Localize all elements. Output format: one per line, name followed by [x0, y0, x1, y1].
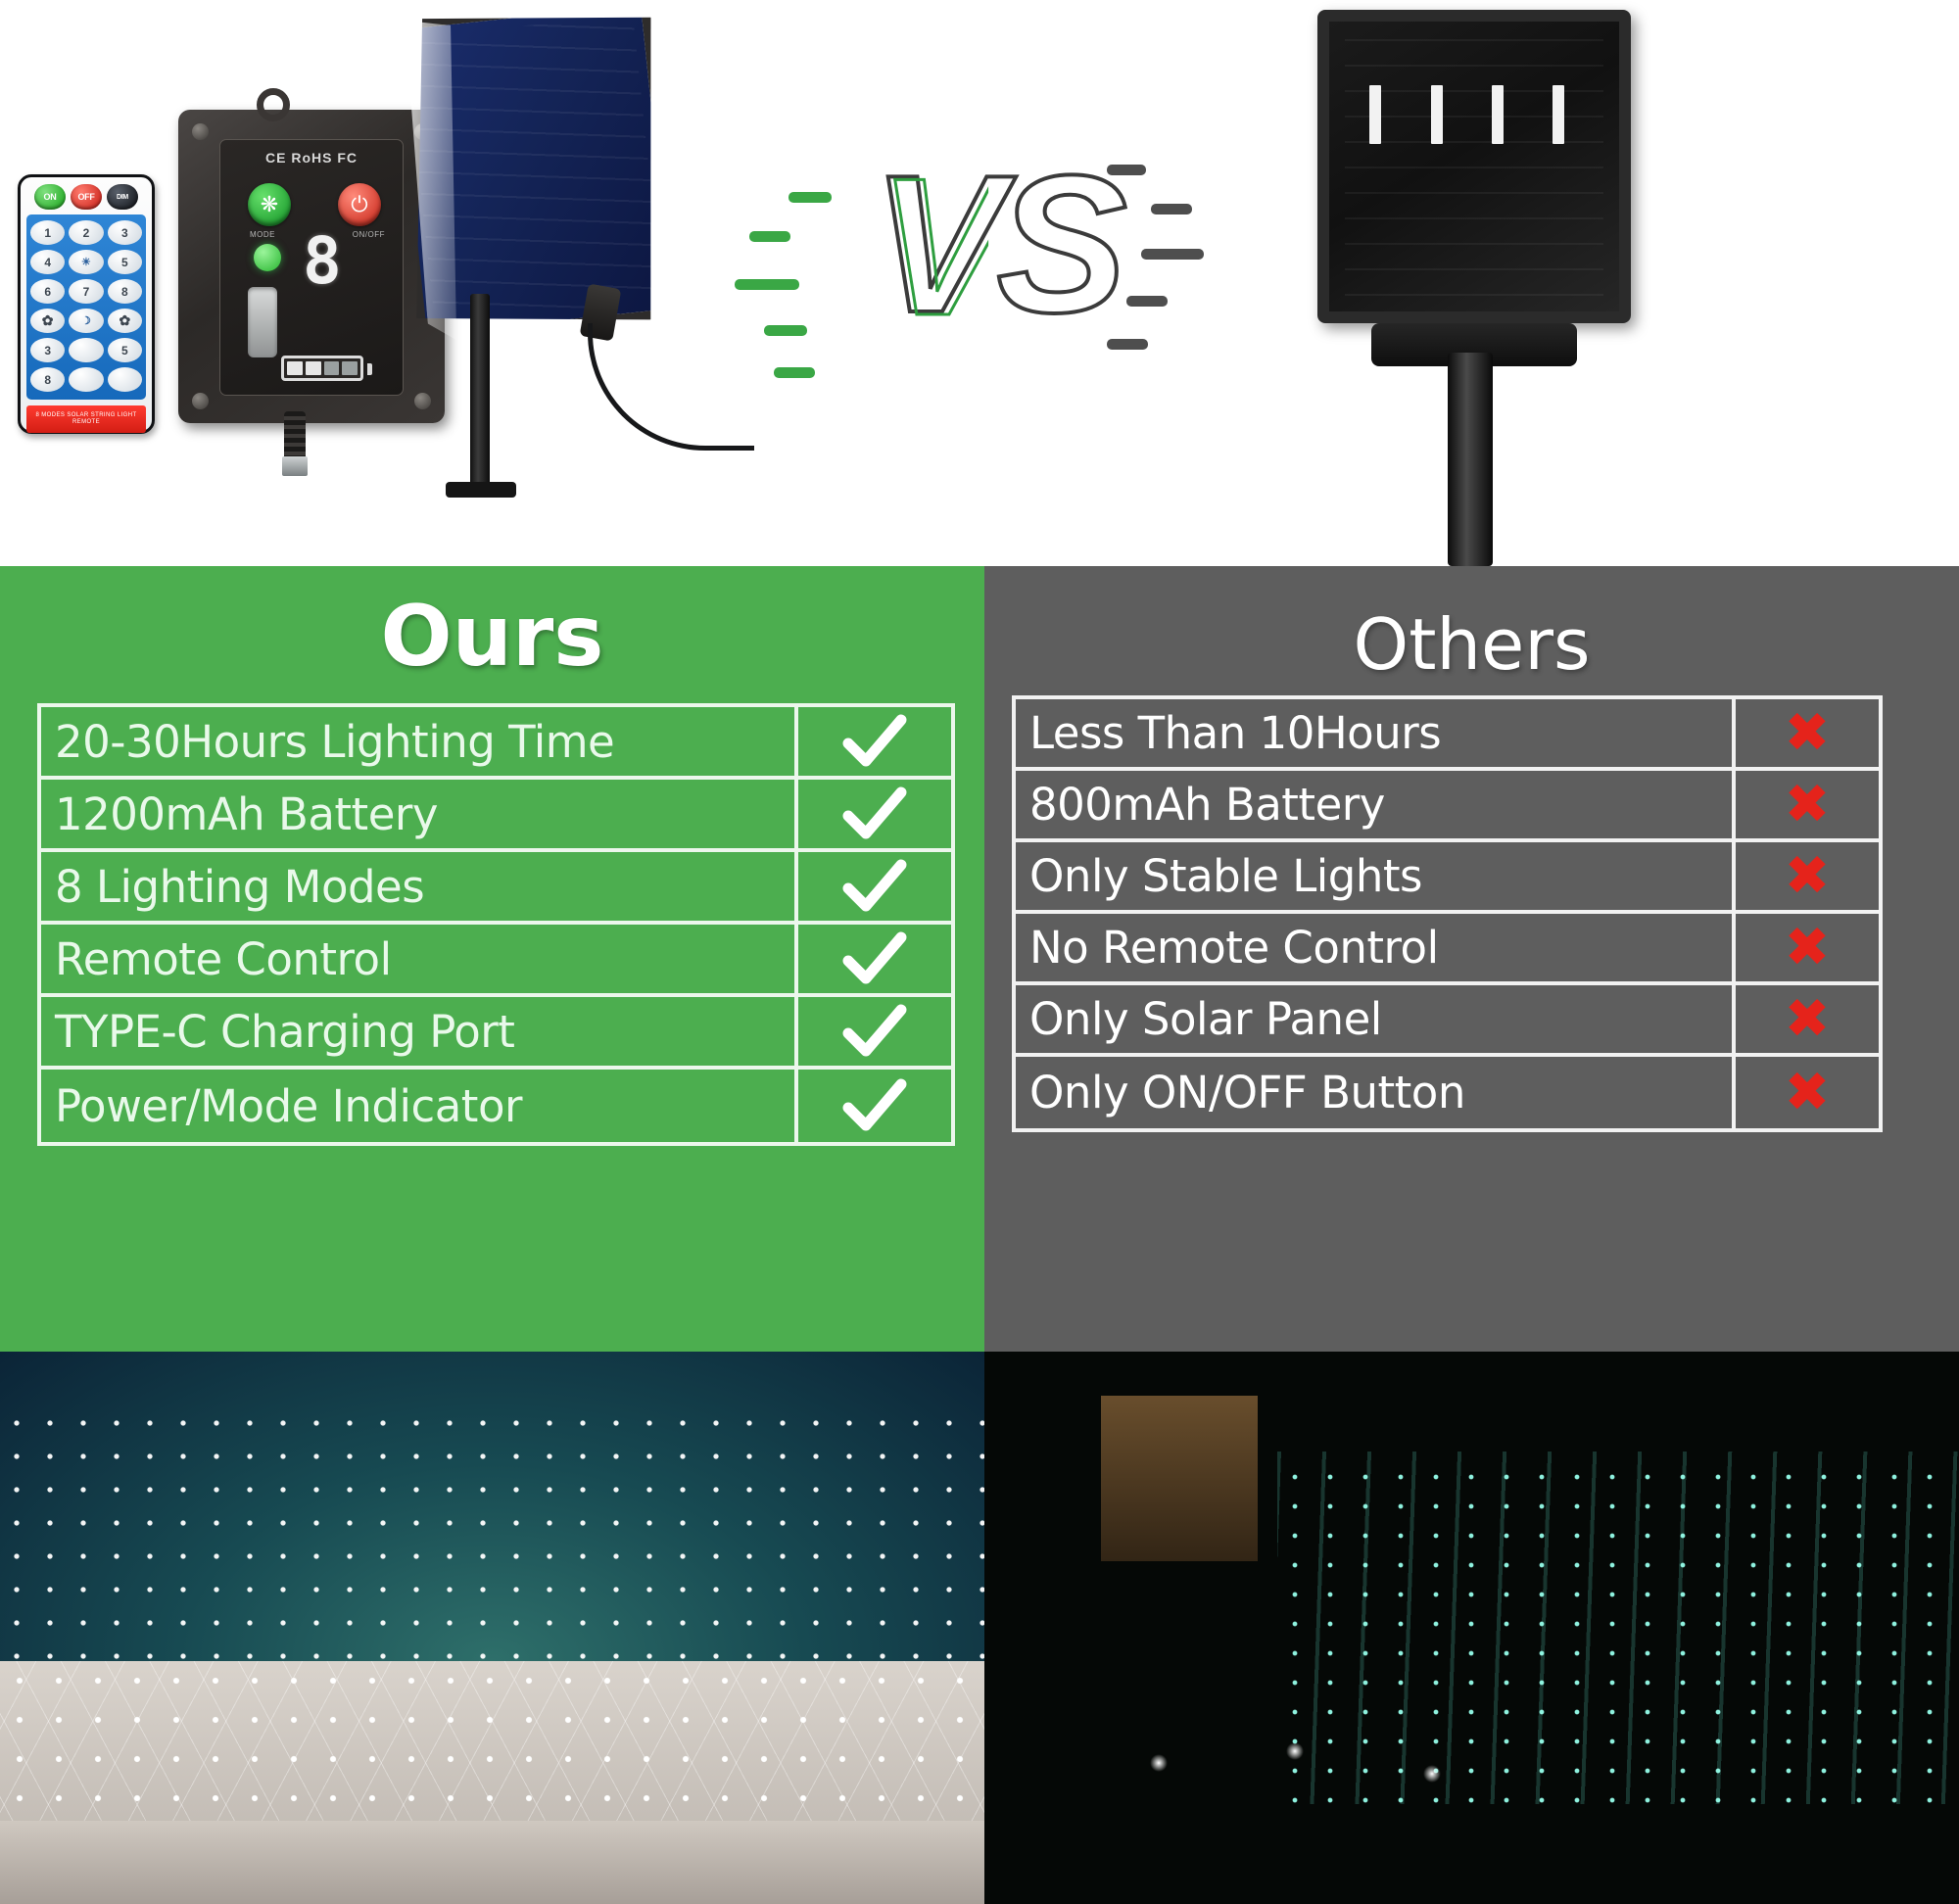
remote-key-gear-right-icon[interactable]: ✿	[108, 309, 142, 333]
others-cross-cell-1: ✖	[1732, 699, 1879, 767]
cross-icon: ✖	[1785, 921, 1831, 976]
table-row: Less Than 10Hours ✖	[1016, 699, 1879, 771]
remote-key-moon-icon[interactable]: ☽	[69, 309, 103, 333]
ours-check-cell-2	[794, 780, 951, 848]
ours-check-cell-4	[794, 925, 951, 993]
table-row: Only Stable Lights ✖	[1016, 842, 1879, 914]
solar-cell-grid-others	[1345, 37, 1603, 296]
table-row: No Remote Control ✖	[1016, 914, 1879, 985]
table-row: Only Solar Panel ✖	[1016, 985, 1879, 1057]
remote-key-5[interactable]: 5	[108, 250, 142, 274]
remote-key-extra-a[interactable]	[69, 367, 103, 392]
others-cross-cell-5: ✖	[1732, 985, 1879, 1053]
remote-top-button-row: ON OFF DIM	[26, 184, 146, 210]
table-row: 800mAh Battery ✖	[1016, 771, 1879, 842]
remote-key-timer-icon[interactable]	[69, 338, 103, 362]
vs-dash-left-5	[774, 367, 815, 378]
solar-panel-ours-base	[446, 482, 516, 498]
table-row: Remote Control	[41, 925, 951, 997]
controller-mode-label: MODE	[250, 230, 275, 239]
check-icon	[842, 714, 907, 769]
table-row: Power/Mode Indicator	[41, 1070, 951, 1142]
ours-feature-label-2: 1200mAh Battery	[41, 780, 794, 848]
check-icon	[842, 931, 907, 986]
vs-dash-right-2	[1151, 204, 1192, 214]
remote-key-2[interactable]: 2	[69, 220, 103, 245]
remote-keypad: 1 2 3 4 ☀ 5 6 7 8 ✿ ☽ ✿ 3 5 8	[26, 214, 146, 400]
solar-panel-ours	[385, 0, 682, 344]
vs-dash-right-5	[1107, 339, 1148, 350]
ours-check-cell-5	[794, 997, 951, 1066]
ours-panel-title: Ours	[0, 566, 984, 686]
solar-panel-others-face	[1317, 10, 1631, 323]
vs-dash-right-4	[1126, 296, 1168, 307]
ours-check-cell-6	[794, 1070, 951, 1142]
ours-feature-label-3: 8 Lighting Modes	[41, 852, 794, 921]
others-cross-cell-3: ✖	[1732, 842, 1879, 910]
table-row: 20-30Hours Lighting Time	[41, 707, 951, 780]
others-feature-label-6: Only ON/OFF Button	[1016, 1057, 1732, 1128]
others-feature-label-5: Only Solar Panel	[1016, 985, 1732, 1053]
others-feature-table: Less Than 10Hours ✖ 800mAh Battery ✖ Onl…	[1012, 695, 1883, 1132]
ours-check-cell-1	[794, 707, 951, 776]
controller-slider-switch[interactable]	[248, 287, 277, 357]
controller-mode-button[interactable]: ❋	[248, 183, 291, 226]
solar-panel-others-busbar-3	[1492, 85, 1504, 144]
remote-key-6[interactable]: 6	[30, 279, 65, 304]
remote-key-4[interactable]: 4	[30, 250, 65, 274]
battery-icon-tip	[367, 363, 372, 375]
remote-key-mode-8[interactable]: 8	[30, 367, 65, 392]
remote-key-1[interactable]: 1	[30, 220, 65, 245]
table-row: 1200mAh Battery	[41, 780, 951, 852]
comparison-panel-ours: Ours 20-30Hours Lighting Time 1200mAh Ba…	[0, 566, 984, 1352]
vs-dash-right-1	[1107, 165, 1146, 175]
remote-key-extra-b[interactable]	[108, 367, 142, 392]
vs-dash-left-2	[749, 231, 790, 242]
vs-dash-right-3	[1141, 249, 1204, 260]
ours-feature-label-1: 20-30Hours Lighting Time	[41, 707, 794, 776]
bottom-photo-band	[0, 1352, 1959, 1904]
ours-ground-pavement	[0, 1821, 984, 1904]
comparison-band: Ours 20-30Hours Lighting Time 1200mAh Ba…	[0, 566, 1959, 1352]
certification-marks: CE RoHS FC	[220, 150, 403, 166]
remote-dim-button[interactable]: DIM	[107, 184, 138, 210]
solar-panel-others	[1317, 10, 1631, 323]
remote-key-mode-5[interactable]: 5	[108, 338, 142, 362]
remote-off-button[interactable]: OFF	[71, 184, 102, 210]
check-icon	[842, 1078, 907, 1133]
solar-panel-ours-wire	[588, 323, 754, 451]
remote-key-8[interactable]: 8	[108, 279, 142, 304]
controller-power-label: ON/OFF	[353, 230, 385, 239]
night-scene-ours-bright-white-net-lights	[0, 1352, 984, 1904]
remote-footer-label: 8 MODES SOLAR STRING LIGHT REMOTE	[26, 405, 146, 433]
remote-footer-text: 8 MODES SOLAR STRING LIGHT REMOTE	[26, 412, 146, 427]
ours-feature-label-5: TYPE-C Charging Port	[41, 997, 794, 1066]
table-row: TYPE-C Charging Port	[41, 997, 951, 1070]
remote-control: ON OFF DIM 1 2 3 4 ☀ 5 6 7 8 ✿ ☽ ✿ 3 5 8…	[18, 174, 155, 434]
vs-dash-left-1	[788, 192, 832, 203]
controller-face-plate: CE RoHS FC ❋ ⏻ MODE ON/OFF 8	[219, 139, 404, 396]
others-panel-title: Others	[984, 566, 1959, 686]
ours-feature-label-6: Power/Mode Indicator	[41, 1070, 794, 1142]
remote-key-3[interactable]: 3	[108, 220, 142, 245]
solar-panel-others-busbar-4	[1553, 85, 1564, 144]
cross-icon: ✖	[1785, 706, 1831, 761]
others-teal-string-lights	[1277, 1462, 1959, 1827]
controller-screw-bottom-right	[414, 393, 431, 409]
check-icon	[842, 859, 907, 914]
solar-panel-ours-stake	[470, 294, 490, 490]
controller-cable	[284, 411, 306, 460]
controller-screw-top-left	[192, 123, 209, 140]
controller-hanger-hole	[257, 88, 290, 121]
check-icon	[842, 786, 907, 841]
ours-check-cell-3	[794, 852, 951, 921]
others-building-wall	[1101, 1396, 1257, 1561]
others-ground-spot-3	[1423, 1765, 1441, 1783]
battery-level-indicator-icon	[281, 356, 363, 381]
solar-panel-others-stake	[1448, 353, 1493, 566]
remote-key-mode-3[interactable]: 3	[30, 338, 65, 362]
controller-mode-display: 8	[303, 236, 340, 286]
check-icon	[842, 1004, 907, 1059]
cross-icon: ✖	[1785, 1066, 1831, 1120]
others-cross-cell-6: ✖	[1732, 1057, 1879, 1128]
others-feature-label-3: Only Stable Lights	[1016, 842, 1732, 910]
vs-badge: VS VS	[813, 147, 1244, 392]
controller-status-led	[254, 244, 281, 271]
ours-feature-label-4: Remote Control	[41, 925, 794, 993]
others-feature-label-4: No Remote Control	[1016, 914, 1732, 981]
remote-key-gear-left-icon[interactable]: ✿	[30, 309, 65, 333]
others-feature-label-1: Less Than 10Hours	[1016, 699, 1732, 767]
controller-power-button[interactable]: ⏻	[338, 183, 381, 226]
remote-key-brightness-icon[interactable]: ☀	[69, 250, 103, 274]
others-cross-cell-4: ✖	[1732, 914, 1879, 981]
vs-dash-left-3	[735, 279, 799, 290]
others-feature-label-2: 800mAh Battery	[1016, 771, 1732, 838]
table-row: 8 Lighting Modes	[41, 852, 951, 925]
others-ground-spot-1	[1150, 1754, 1168, 1772]
vs-dash-left-4	[764, 325, 807, 336]
solar-panel-others-busbar-2	[1431, 85, 1443, 144]
table-row: Only ON/OFF Button ✖	[1016, 1057, 1879, 1128]
comparison-panel-others: Others Less Than 10Hours ✖ 800mAh Batter…	[984, 566, 1959, 1352]
top-product-photo-band: ON OFF DIM 1 2 3 4 ☀ 5 6 7 8 ✿ ☽ ✿ 3 5 8…	[0, 0, 1959, 566]
others-cross-cell-2: ✖	[1732, 771, 1879, 838]
solar-panel-others-busbar-1	[1369, 85, 1381, 144]
controller-waterproof-cap	[282, 456, 308, 476]
cross-icon: ✖	[1785, 778, 1831, 833]
remote-key-7[interactable]: 7	[69, 279, 103, 304]
ours-feature-table: 20-30Hours Lighting Time 1200mAh Battery…	[37, 703, 955, 1146]
cross-icon: ✖	[1785, 992, 1831, 1047]
controller-screw-bottom-left	[192, 393, 209, 409]
remote-on-button[interactable]: ON	[34, 184, 66, 210]
night-scene-others-dim-teal-fence-lights	[984, 1352, 1959, 1904]
cross-icon: ✖	[1785, 849, 1831, 904]
